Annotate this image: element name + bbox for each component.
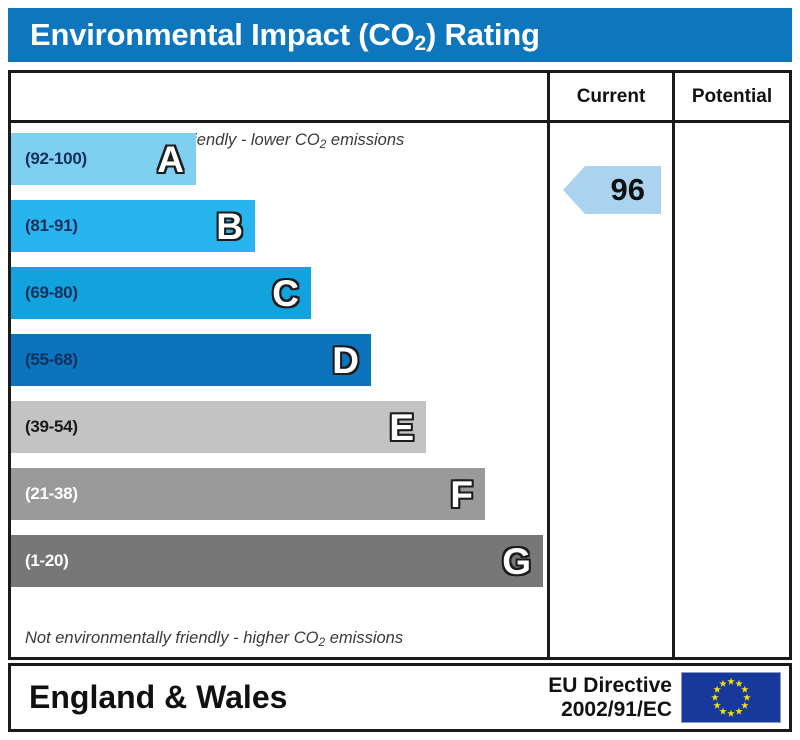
eu-directive-label: EU Directive 2002/91/EC (548, 674, 672, 721)
band-a: (92-100)A (11, 133, 196, 185)
band-range-label: (21-38) (25, 484, 78, 504)
band-letter-f: F (450, 476, 473, 513)
band-range-label: (92-100) (25, 149, 87, 169)
scale-caption-bottom: Not environmentally friendly - higher CO… (25, 629, 403, 648)
band-range-label: (55-68) (25, 350, 78, 370)
eu-flag-star (713, 702, 721, 710)
region-label: England & Wales (29, 679, 287, 716)
band-f: (21-38)F (11, 468, 485, 520)
band-range-label: (81-91) (25, 216, 78, 236)
eu-flag-star (727, 710, 735, 718)
scale-caption-bottom-post: emissions (325, 629, 403, 647)
eu-flag-star (713, 686, 721, 694)
eu-flag-star (735, 680, 743, 688)
rating-table: Current Potential Very environmentally f… (8, 70, 792, 660)
band-e: (39-54)E (11, 401, 426, 453)
page-title: Environmental Impact (CO2) Rating (30, 17, 540, 53)
band-letter-b: B (216, 208, 243, 245)
current-rating-arrow: 96 (563, 166, 661, 214)
scale-caption-bottom-pre: Not environmentally friendly - higher CO (25, 629, 318, 647)
band-range-label: (1-20) (25, 551, 69, 571)
band-c: (69-80)C (11, 267, 311, 319)
page-title-subscript: 2 (415, 32, 426, 55)
band-letter-a: A (157, 141, 184, 178)
eu-flag-star (741, 686, 749, 694)
eu-flag-star (735, 707, 743, 715)
band-range-label: (39-54) (25, 417, 78, 437)
column-divider-current (547, 123, 550, 657)
band-letter-e: E (389, 409, 414, 446)
band-letter-g: G (502, 543, 531, 580)
eu-flag-star (719, 680, 727, 688)
eu-flag-star (743, 694, 751, 702)
rating-scale: Very environmentally friendly - lower CO… (11, 123, 547, 657)
eu-directive-line1: EU Directive (548, 674, 672, 698)
epc-certificate: Environmental Impact (CO2) Rating Curren… (0, 0, 800, 740)
table-header-row: Current Potential (11, 73, 789, 123)
footer-bar: England & Wales EU Directive 2002/91/EC (8, 663, 792, 732)
band-letter-c: C (272, 275, 299, 312)
band-range-label: (69-80) (25, 283, 78, 303)
column-divider-potential (672, 123, 675, 657)
scale-caption-top-sub: 2 (320, 137, 327, 151)
band-letter-d: D (332, 342, 359, 379)
page-title-main: Environmental Impact (CO (30, 17, 415, 52)
eu-flag-star (719, 707, 727, 715)
eu-directive-line2: 2002/91/EC (548, 698, 672, 722)
chart-title-bar: Environmental Impact (CO2) Rating (8, 8, 792, 62)
band-b: (81-91)B (11, 200, 255, 252)
eu-flag-icon (681, 672, 781, 723)
eu-flag-star (711, 694, 719, 702)
band-d: (55-68)D (11, 334, 371, 386)
eu-flag-star (741, 702, 749, 710)
page-title-tail: ) Rating (426, 17, 540, 52)
current-rating-value: 96 (611, 172, 645, 208)
scale-caption-bottom-sub: 2 (318, 635, 325, 649)
column-header-current: Current (547, 73, 672, 120)
column-header-potential: Potential (672, 73, 789, 120)
band-g: (1-20)G (11, 535, 543, 587)
scale-caption-top-post: emissions (326, 131, 404, 149)
eu-flag-star (727, 678, 735, 686)
